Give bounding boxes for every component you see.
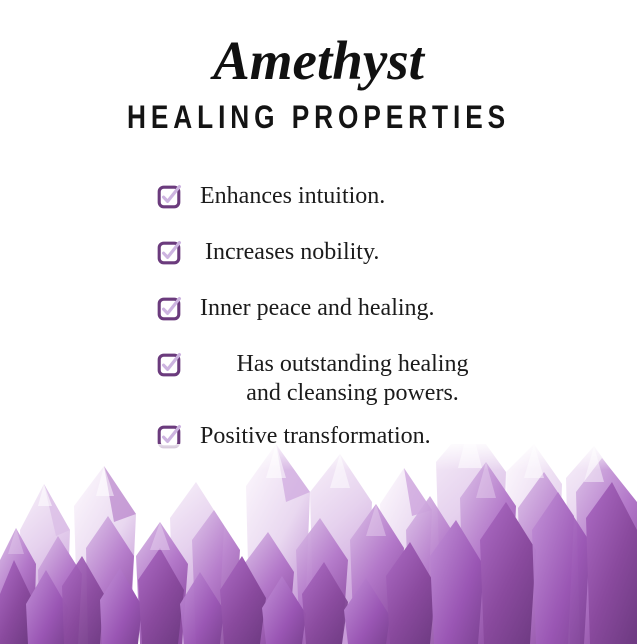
checkbox-checked-icon	[157, 352, 182, 377]
page-subtitle: HEALING PROPERTIES	[57, 98, 579, 136]
list-item-label: Has outstanding healing and cleansing po…	[0, 350, 637, 408]
page-title: Amethyst	[0, 30, 637, 92]
checkbox-checked-icon	[157, 240, 182, 265]
list-item: Inner peace and healing.	[0, 294, 637, 328]
amethyst-healing-properties-poster: Amethyst HEALING PROPERTIES Enhances int…	[0, 0, 637, 644]
amethyst-crystal-cluster-image	[0, 444, 637, 644]
list-item-label: Increases nobility.	[0, 238, 637, 267]
healing-properties-list: Enhances intuition. Increases nobility. …	[0, 182, 637, 478]
list-item: Has outstanding healing and cleansing po…	[0, 350, 637, 408]
header: Amethyst HEALING PROPERTIES	[0, 30, 637, 136]
list-item-label: Inner peace and healing.	[0, 294, 637, 323]
list-item: Enhances intuition.	[0, 182, 637, 216]
list-item-label: Enhances intuition.	[0, 182, 637, 211]
checkbox-checked-icon	[157, 184, 182, 209]
checkbox-checked-icon	[157, 296, 182, 321]
list-item: Increases nobility.	[0, 238, 637, 272]
